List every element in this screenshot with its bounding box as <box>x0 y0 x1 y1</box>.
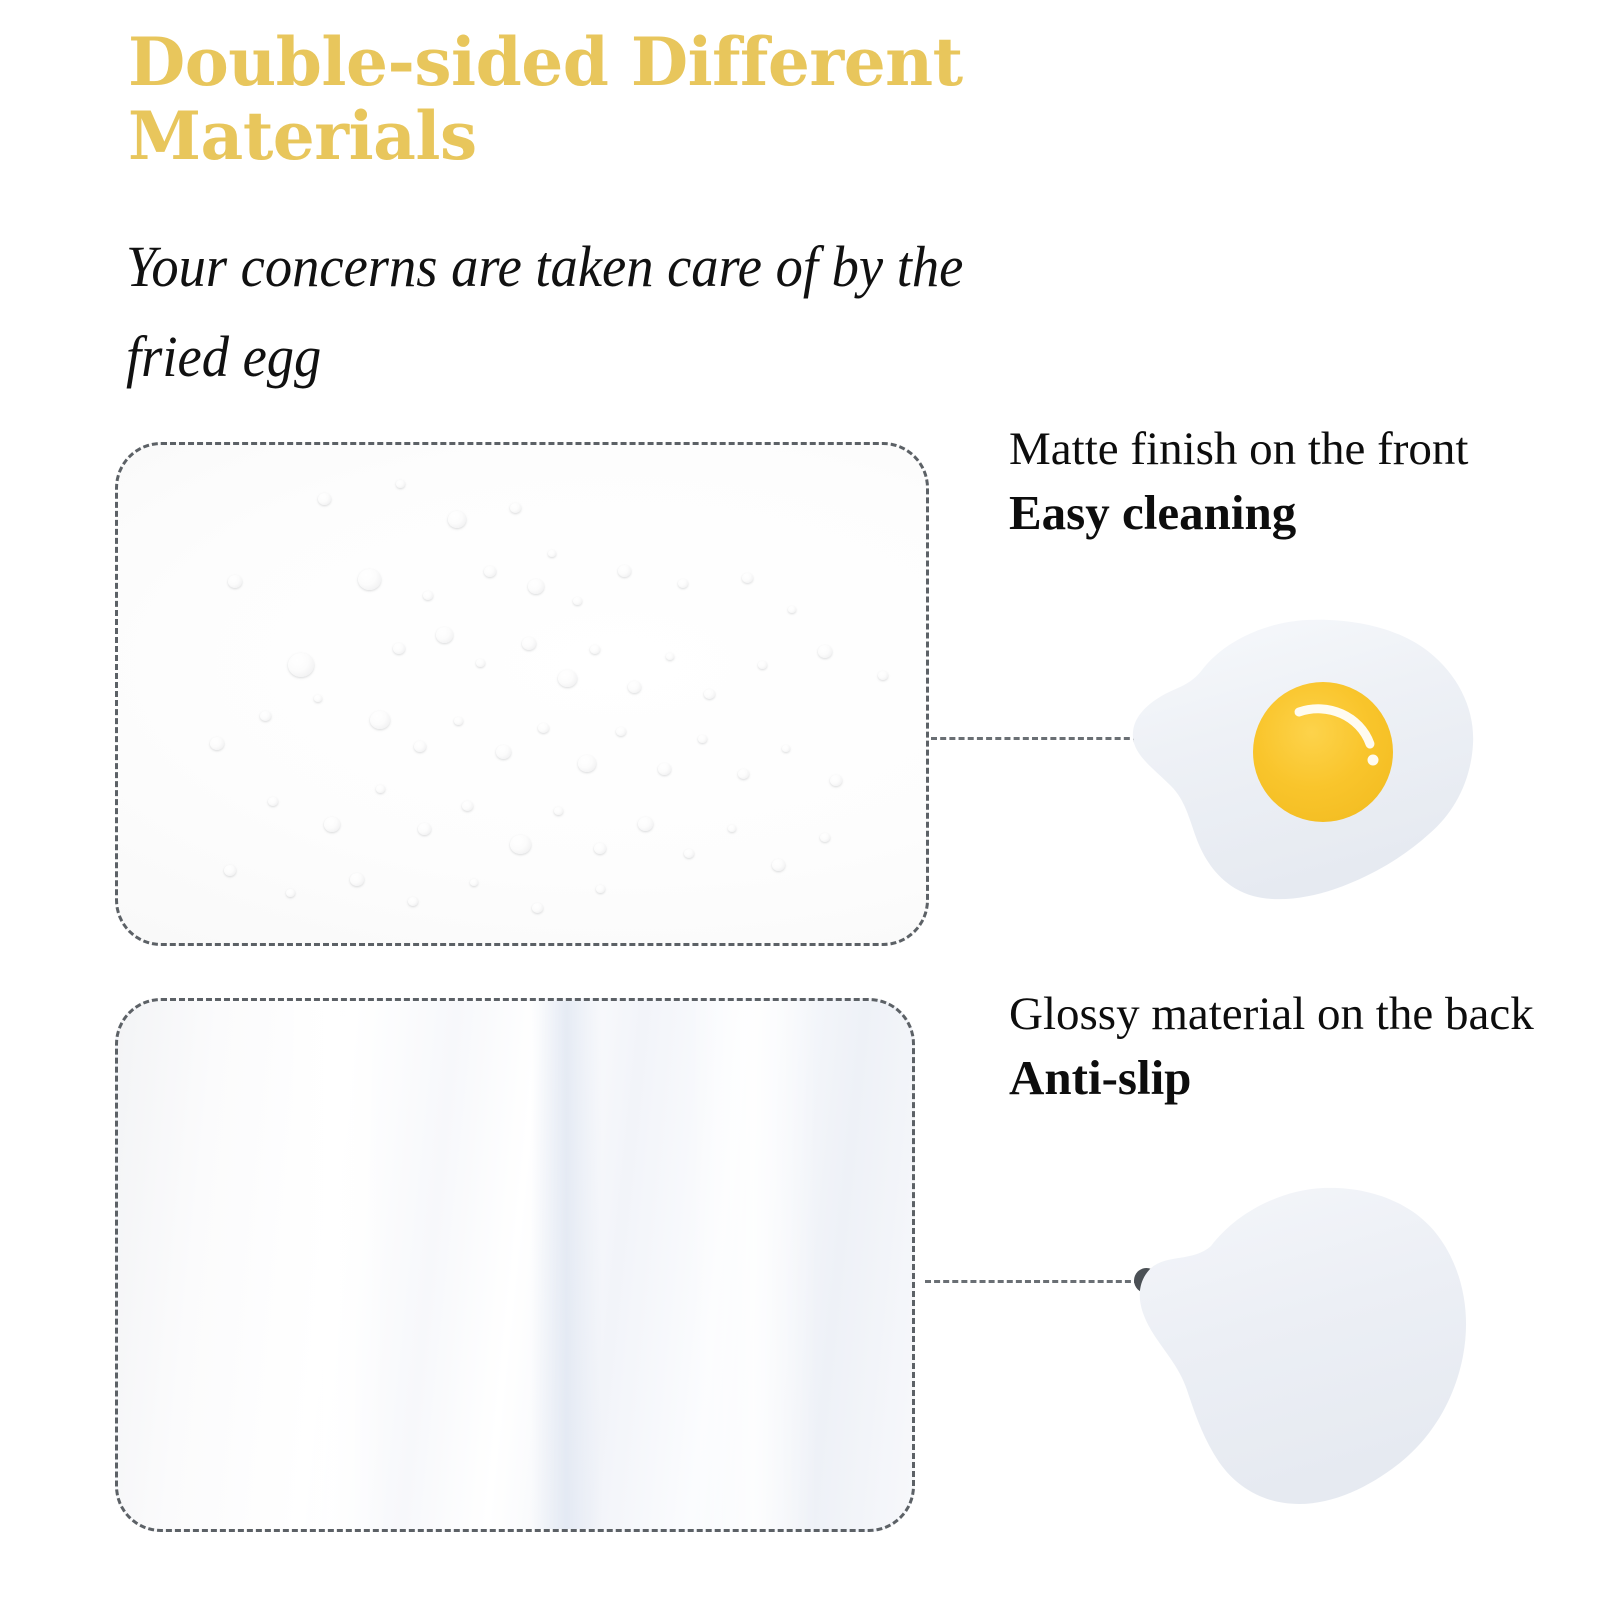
yolk-highlight-dot <box>1368 755 1379 766</box>
water-droplet <box>510 503 521 513</box>
water-droplet <box>678 579 688 588</box>
water-droplet <box>628 681 641 693</box>
water-droplet <box>476 659 485 667</box>
water-droplet <box>228 575 242 588</box>
water-droplet <box>318 493 331 505</box>
water-droplet <box>573 597 582 605</box>
water-droplet <box>358 569 381 590</box>
fried-egg-icon <box>1085 604 1485 914</box>
water-droplet <box>260 711 271 721</box>
water-droplet <box>532 903 543 913</box>
water-droplet <box>590 645 600 654</box>
water-droplet <box>538 723 549 733</box>
water-droplet <box>288 653 314 677</box>
water-droplet <box>314 695 322 702</box>
water-droplet <box>738 769 749 779</box>
water-droplet <box>638 817 653 831</box>
water-droplet <box>393 643 405 654</box>
water-droplet <box>772 859 785 871</box>
water-droplet <box>618 565 631 577</box>
page-title: Double-sided Different Materials <box>128 26 1028 174</box>
water-droplet-layer <box>118 445 926 943</box>
water-droplet <box>818 645 832 658</box>
callout-front-emphasis: Easy cleaning <box>1009 482 1609 543</box>
water-droplet <box>462 801 473 811</box>
water-droplet <box>578 755 596 772</box>
water-droplet <box>554 807 563 815</box>
water-droplet <box>210 737 224 750</box>
water-droplet <box>470 879 478 886</box>
water-droplet <box>408 897 418 906</box>
callout-front: Matte finish on the front Easy cleaning <box>1009 421 1609 544</box>
water-droplet <box>658 763 671 775</box>
water-droplet <box>268 797 278 806</box>
water-droplet <box>684 849 694 858</box>
water-droplet <box>782 745 790 752</box>
water-droplet <box>448 511 466 528</box>
water-droplet <box>758 661 767 669</box>
water-droplet <box>454 717 463 725</box>
water-droplet <box>698 735 707 743</box>
callout-back: Glossy material on the back Anti-slip <box>1009 986 1616 1109</box>
water-droplet <box>594 843 606 854</box>
page-subtitle: Your concerns are taken care of by the f… <box>126 222 1000 402</box>
water-droplet <box>830 775 842 786</box>
water-droplet <box>496 745 511 759</box>
water-droplet <box>528 579 544 594</box>
water-droplet <box>522 637 536 650</box>
water-droplet <box>616 727 626 736</box>
water-droplet <box>370 711 390 729</box>
glossy-back-surface <box>115 998 915 1532</box>
matte-front-surface <box>115 442 929 946</box>
gloss-sheen-band-mid <box>531 998 602 1532</box>
water-droplet <box>350 873 364 886</box>
egg-white-shape-back <box>1140 1188 1466 1504</box>
water-droplet <box>596 885 605 893</box>
water-droplet <box>788 606 796 613</box>
gloss-sheen-band-right <box>690 998 817 1532</box>
water-droplet <box>414 741 426 752</box>
water-droplet <box>484 566 496 577</box>
callout-back-lead: Glossy material on the back <box>1009 986 1616 1043</box>
water-droplet <box>324 817 340 832</box>
water-droplet <box>742 573 753 583</box>
water-droplet <box>396 480 405 488</box>
callout-back-emphasis: Anti-slip <box>1009 1047 1616 1108</box>
water-droplet <box>418 823 431 835</box>
water-droplet <box>558 670 577 687</box>
egg-yolk-shape <box>1253 682 1393 822</box>
water-droplet <box>224 865 236 876</box>
gloss-sheen-band-left <box>277 998 388 1532</box>
callout-front-lead: Matte finish on the front <box>1009 421 1609 478</box>
water-droplet <box>704 689 715 699</box>
water-droplet <box>820 833 830 842</box>
water-droplet <box>376 785 385 793</box>
water-droplet <box>878 671 888 680</box>
water-droplet <box>286 889 295 897</box>
water-droplet <box>728 825 736 832</box>
water-droplet <box>423 591 433 600</box>
product-infographic: Double-sided Different Materials Your co… <box>0 0 1616 1606</box>
water-droplet <box>666 653 674 660</box>
water-droplet <box>510 835 531 854</box>
egg-white-icon <box>1095 1168 1475 1524</box>
water-droplet <box>548 550 556 557</box>
water-droplet <box>436 627 453 643</box>
